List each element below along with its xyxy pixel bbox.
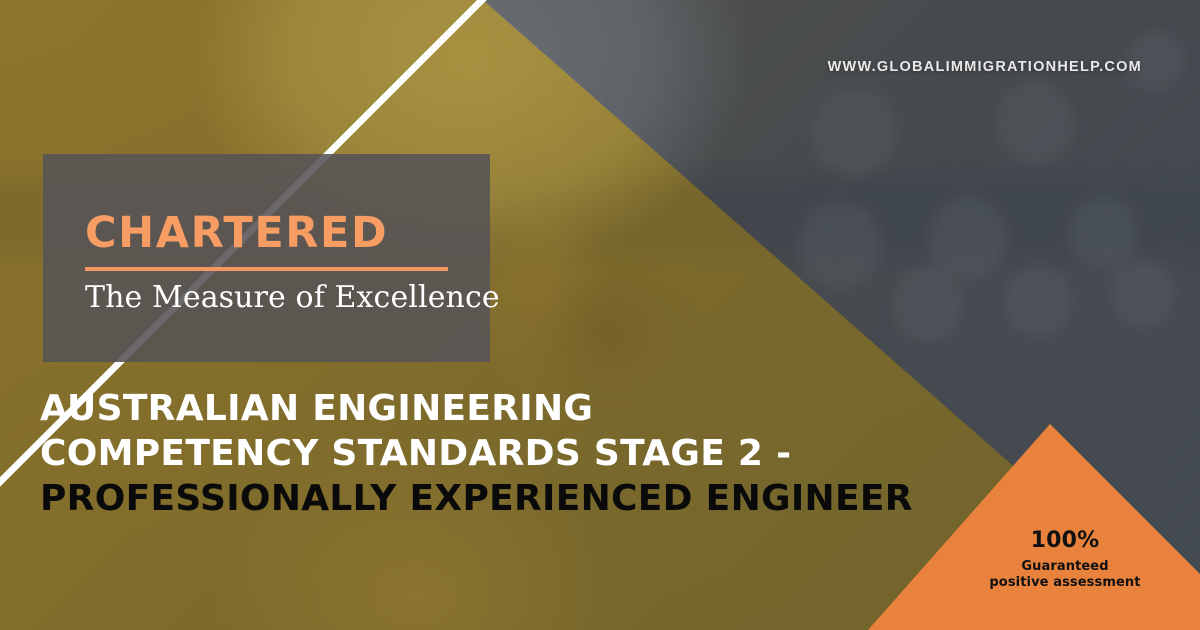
promotional-banner: WWW.GLOBALIMMIGRATIONHELP.COM CHARTERED … <box>0 0 1200 630</box>
website-url: WWW.GLOBALIMMIGRATIONHELP.COM <box>828 59 1142 75</box>
badge-percent: 100% <box>940 528 1190 555</box>
badge-line-1: Guaranteed <box>940 559 1190 575</box>
guarantee-badge: 100% Guaranteed positive assessment <box>940 528 1190 591</box>
badge-line-2: positive assessment <box>940 575 1190 591</box>
plaque-divider-rule <box>85 267 448 271</box>
plaque-title: CHARTERED <box>85 212 450 255</box>
plaque-subtitle: The Measure of Excellence <box>85 282 450 314</box>
chartered-plaque: CHARTERED The Measure of Excellence <box>43 154 490 362</box>
headline-line-2: COMPETENCY STANDARDS STAGE 2 - <box>40 431 1040 476</box>
headline-line-1: AUSTRALIAN ENGINEERING <box>40 386 1040 431</box>
headline: AUSTRALIAN ENGINEERING COMPETENCY STANDA… <box>40 386 1040 521</box>
headline-line-3: PROFESSIONALLY EXPERIENCED ENGINEER <box>40 476 1040 521</box>
